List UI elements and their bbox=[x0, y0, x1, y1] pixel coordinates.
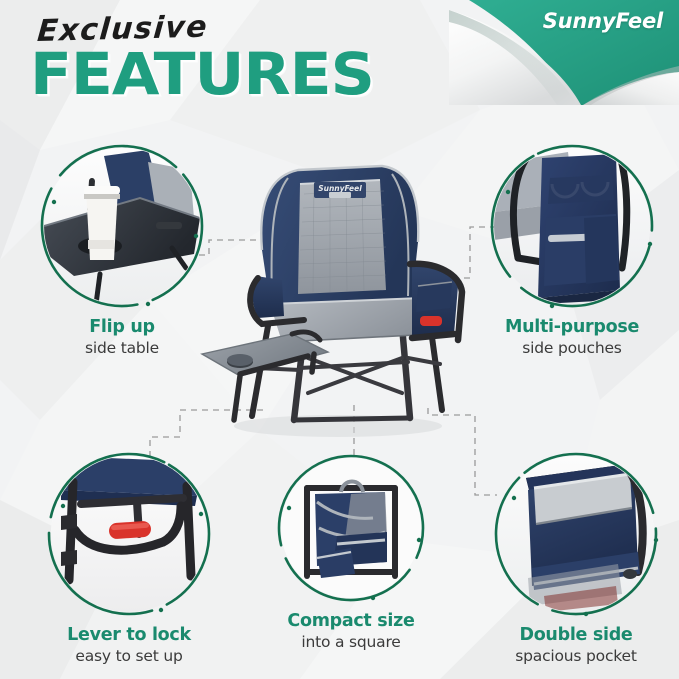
feature-flip-up-side-table: Flip up side table bbox=[22, 140, 222, 357]
feature-caption: Multi-purpose side pouches bbox=[472, 318, 672, 357]
feature-caption-main: Compact size bbox=[263, 612, 439, 632]
feature-double-side-pocket: Double side spacious pocket bbox=[477, 448, 675, 665]
feature-ring bbox=[273, 450, 429, 606]
lever-red-detail bbox=[420, 316, 442, 326]
feature-caption: Lever to lock easy to set up bbox=[30, 626, 228, 665]
feature-caption-main: Double side bbox=[477, 626, 675, 646]
feature-caption: Compact size into a square bbox=[263, 612, 439, 651]
feature-ring bbox=[486, 140, 658, 312]
feature-lever-to-lock: Lever to lock easy to set up bbox=[30, 448, 228, 665]
feature-ring bbox=[43, 448, 215, 620]
feature-caption: Double side spacious pocket bbox=[477, 626, 675, 665]
feature-caption-main: Flip up bbox=[22, 318, 222, 338]
headline-block: Exclusive FEATURES bbox=[30, 14, 354, 102]
feature-ring bbox=[36, 140, 208, 312]
feature-caption-sub: side pouches bbox=[472, 339, 672, 358]
feature-ring bbox=[490, 448, 662, 620]
svg-text:SunnyFeel: SunnyFeel bbox=[318, 184, 362, 193]
feature-caption-sub: side table bbox=[22, 339, 222, 358]
feature-caption-sub: spacious pocket bbox=[477, 647, 675, 666]
product-chair-illustration: SunnyFeel bbox=[196, 158, 476, 448]
feature-caption-sub: easy to set up bbox=[30, 647, 228, 666]
feature-caption-main: Multi-purpose bbox=[472, 318, 672, 338]
feature-caption-sub: into a square bbox=[263, 633, 439, 652]
feature-compact-size: Compact size into a square bbox=[263, 450, 439, 651]
feature-multi-purpose-side-pouches: Multi-purpose side pouches bbox=[472, 140, 672, 357]
feature-caption: Flip up side table bbox=[22, 318, 222, 357]
feature-caption-main: Lever to lock bbox=[30, 626, 228, 646]
headline-main: FEATURES bbox=[30, 47, 374, 102]
chair-brand-tag: SunnyFeel bbox=[314, 182, 366, 198]
brand-logo-text: SunnyFeel bbox=[543, 9, 663, 33]
